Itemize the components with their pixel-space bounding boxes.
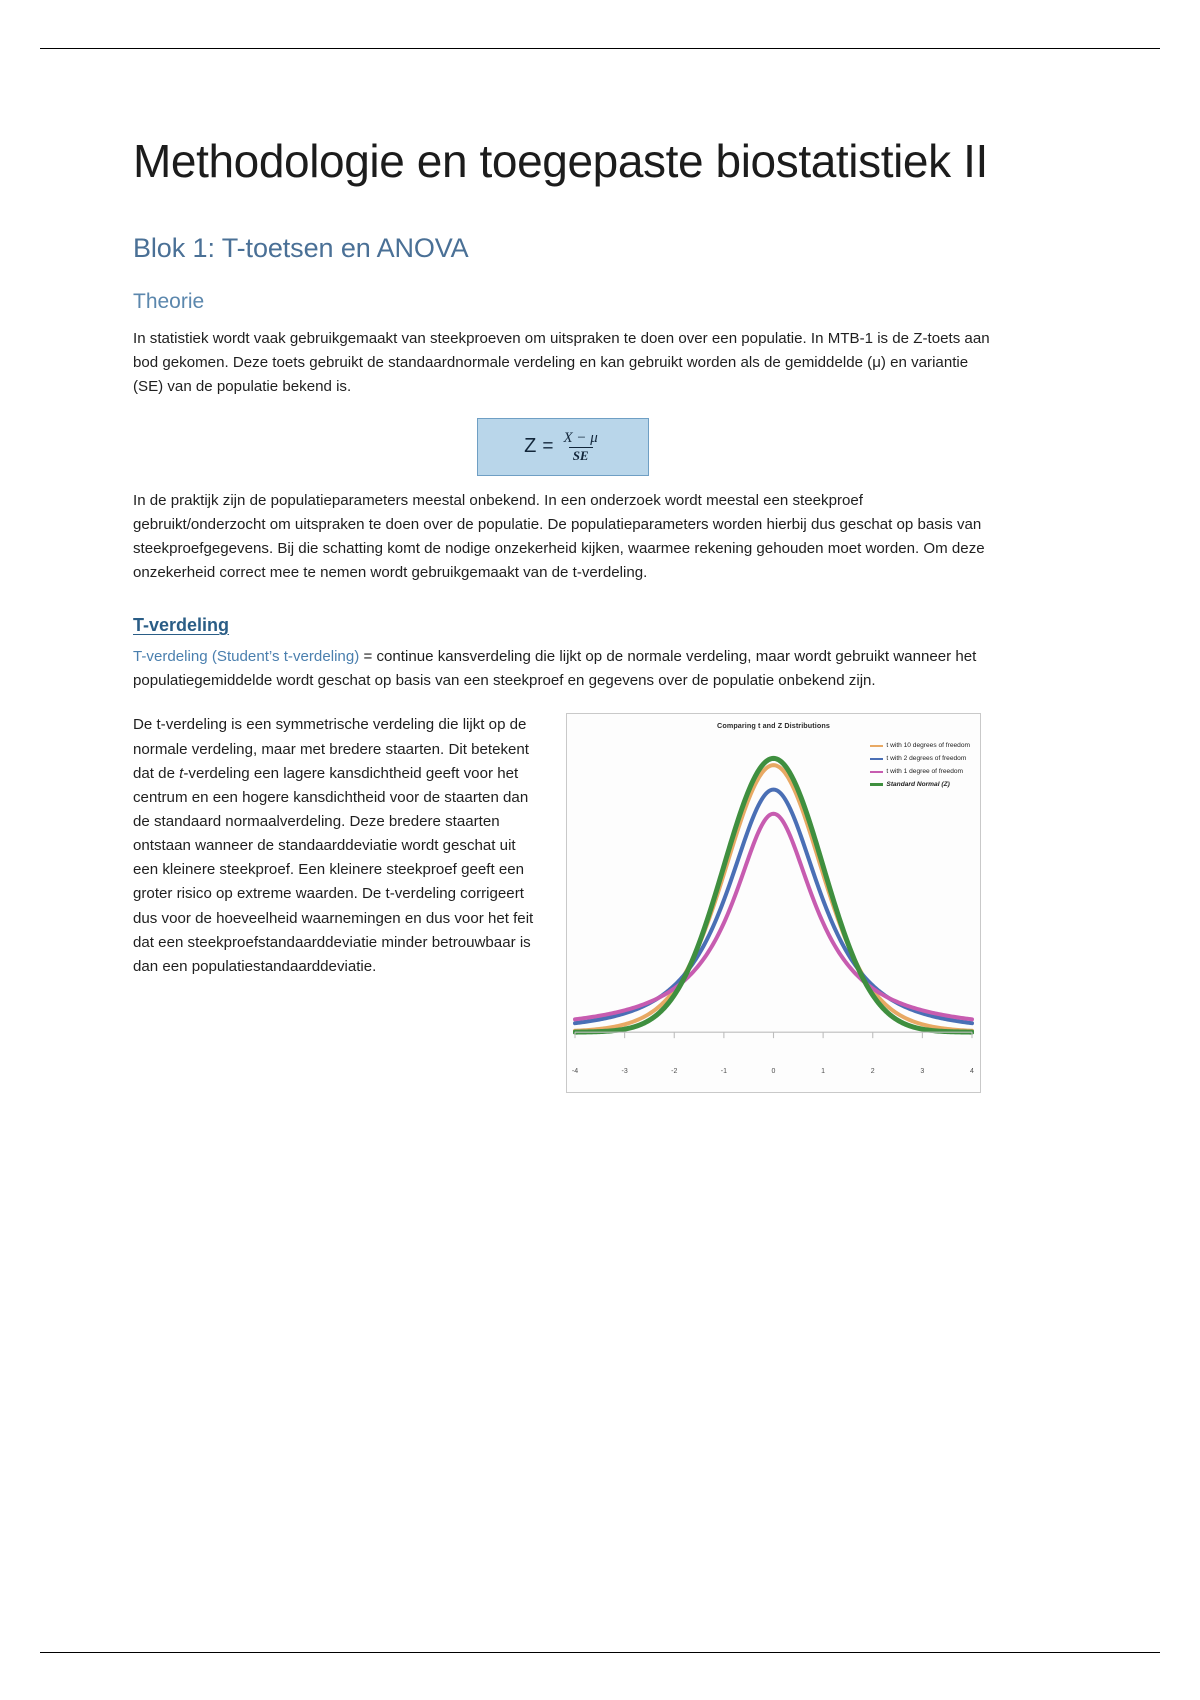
formula-equals: =: [542, 436, 553, 458]
paragraph-symmetrisch: De t-verdeling is een symmetrische verde…: [133, 713, 538, 979]
left-text-column: De t-verdeling is een symmetrische verde…: [133, 713, 538, 979]
document-page: Methodologie en toegepaste biostatistiek…: [0, 0, 1200, 1700]
chart-legend: t with 10 degrees of freedomt with 2 deg…: [870, 742, 970, 788]
page-top-rule: [40, 48, 1160, 49]
chart-title: Comparing t and Z Distributions: [567, 721, 980, 730]
legend-item: Standard Normal (Z): [870, 781, 970, 788]
x-tick-label: 2: [871, 1068, 875, 1075]
right-figure-column: Comparing t and Z Distributions t with 1…: [566, 713, 993, 1093]
legend-swatch: [870, 758, 883, 760]
curve-df10: [575, 766, 972, 1032]
document-content: Methodologie en toegepaste biostatistiek…: [133, 133, 993, 1093]
x-tick-label: -2: [671, 1068, 677, 1075]
definition-term: T-verdeling (Student’s t-verdeling): [133, 648, 359, 665]
paragraph-intro: In statistiek wordt vaak gebruikgemaakt …: [133, 327, 993, 399]
formula-lhs: Z: [524, 435, 536, 458]
x-tick-label: -1: [721, 1068, 727, 1075]
page-title: Methodologie en toegepaste biostatistiek…: [133, 133, 993, 189]
formula-fraction: X − μ SE: [560, 430, 602, 463]
legend-label: t with 2 degrees of freedom: [886, 755, 966, 762]
para3-part2: -verdeling een lagere kansdichtheid geef…: [133, 765, 533, 975]
legend-label: t with 10 degrees of freedom: [886, 742, 970, 749]
x-axis-tick-labels: -4-3-2-101234: [573, 1068, 974, 1086]
subsection-heading-tverdeling: T-verdeling: [133, 615, 993, 636]
legend-swatch: [870, 745, 883, 747]
legend-swatch: [870, 783, 883, 786]
legend-item: t with 2 degrees of freedom: [870, 755, 970, 762]
x-tick-label: 3: [920, 1068, 924, 1075]
legend-item: t with 1 degree of freedom: [870, 768, 970, 775]
legend-item: t with 10 degrees of freedom: [870, 742, 970, 749]
section-heading-blok1: Blok 1: T-toetsen en ANOVA: [133, 233, 993, 264]
formula-numerator: X − μ: [560, 430, 602, 447]
curve-standard-normal: [575, 759, 972, 1033]
x-tick-label: -3: [622, 1068, 628, 1075]
chart-curves: [575, 759, 972, 1033]
x-axis-ticks: [575, 1033, 972, 1039]
paragraph-definition: T-verdeling (Student’s t-verdeling) = co…: [133, 645, 993, 693]
x-tick-label: -4: [572, 1068, 578, 1075]
z-formula: Z = X − μ SE: [524, 430, 602, 463]
page-bottom-rule: [40, 1652, 1160, 1653]
curve-df2: [575, 790, 972, 1024]
legend-swatch: [870, 771, 883, 773]
legend-label: Standard Normal (Z): [886, 781, 949, 788]
formula-container: Z = X − μ SE: [133, 418, 993, 476]
paragraph-praktijk: In de praktijk zijn de populatieparamete…: [133, 489, 993, 586]
distribution-chart: Comparing t and Z Distributions t with 1…: [566, 713, 981, 1093]
z-formula-box: Z = X − μ SE: [477, 418, 649, 476]
curve-df1: [575, 814, 972, 1020]
formula-denominator: SE: [569, 447, 593, 464]
x-tick-label: 4: [970, 1068, 974, 1075]
x-tick-label: 0: [772, 1068, 776, 1075]
text-figure-row: De t-verdeling is een symmetrische verde…: [133, 713, 993, 1093]
legend-label: t with 1 degree of freedom: [886, 768, 963, 775]
subsection-heading-theorie: Theorie: [133, 290, 993, 314]
x-tick-label: 1: [821, 1068, 825, 1075]
